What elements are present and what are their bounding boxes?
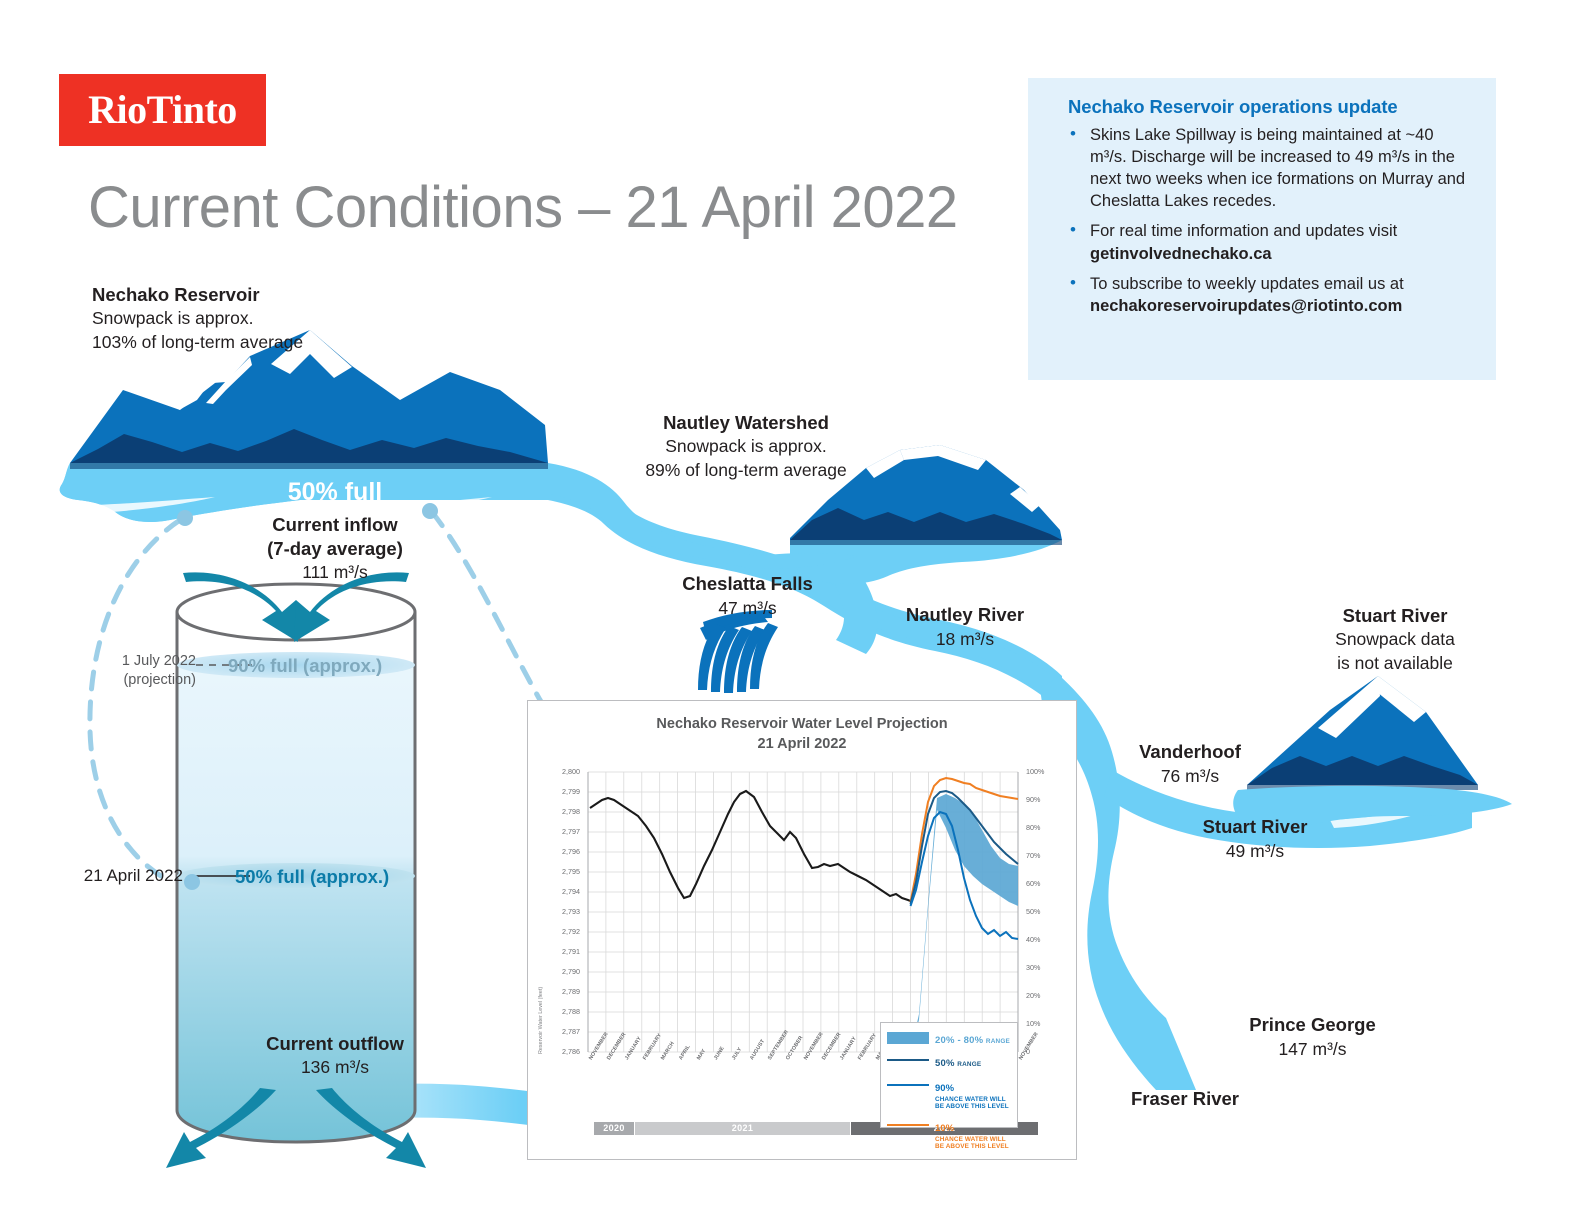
current-outflow-value: 136 m³/s [170, 1056, 500, 1079]
stuart-river-name: Stuart River [1160, 815, 1350, 840]
prince-george-value: 147 m³/s [1205, 1038, 1420, 1061]
chart-year-band: 2021 [635, 1122, 850, 1135]
chart-y2tick: 80% [1026, 823, 1060, 832]
chart-ytick: 2,800 [546, 767, 580, 776]
stuart-snowpack-name: Stuart River [1280, 604, 1510, 628]
chart-y2tick: 100% [1026, 767, 1060, 776]
chart-ytick: 2,798 [546, 807, 580, 816]
chart-y2tick: 50% [1026, 907, 1060, 916]
legend-band-label: 20% - 80% [935, 1035, 983, 1046]
nautley-snowpack-line1: Snowpack is approx. [620, 435, 872, 458]
chart-title: Nechako Reservoir Water Level Projection [528, 715, 1076, 735]
nautley-snowpack-label: Nautley Watershed Snowpack is approx. 89… [620, 411, 872, 482]
legend-90-suffix: CHANCE WATER WILL BE ABOVE THIS LEVEL [935, 1096, 1011, 1111]
projection-date-label: 1 July 2022 (projection) [88, 652, 196, 689]
legend-line-90 [887, 1084, 929, 1086]
reservoir-fill-banner: 50% full [170, 478, 500, 507]
chart-ytick: 2,788 [546, 1007, 580, 1016]
current-inflow-label: Current inflow (7-day average) 111 m³/s [165, 513, 505, 584]
prince-george-label: Prince George 147 m³/s [1205, 1013, 1420, 1061]
chart-y2tick: 40% [1026, 935, 1060, 944]
legend-50-suffix: RANGE [957, 1061, 981, 1068]
chart-ytick: 2,793 [546, 907, 580, 916]
legend-item-90: 90% CHANCE WATER WILL BE ABOVE THIS LEVE… [887, 1078, 1011, 1111]
stuart-river-value: 49 m³/s [1160, 840, 1350, 863]
legend-item-10: 10% CHANCE WATER WILL BE ABOVE THIS LEVE… [887, 1118, 1011, 1151]
stuart-snowpack-label: Stuart River Snowpack data is not availa… [1280, 604, 1510, 675]
nechako-snowpack-line2: 103% of long-term average [92, 331, 303, 354]
chart-ytick: 2,795 [546, 867, 580, 876]
prince-george-name: Prince George [1205, 1013, 1420, 1038]
infographic-root: RioTinto Current Conditions – 21 April 2… [0, 0, 1584, 1224]
current-inflow-sub: (7-day average) [165, 537, 505, 561]
stuart-river-flow-label: Stuart River 49 m³/s [1160, 815, 1350, 863]
projection-date: 1 July 2022 [88, 652, 196, 671]
current-level-label: 50% full (approx.) [235, 866, 389, 888]
chart-title-block: Nechako Reservoir Water Level Projection… [528, 715, 1076, 754]
projection-level-label: 90% full (approx.) [228, 655, 382, 677]
stuart-snowpack-line2: is not available [1280, 652, 1510, 675]
nechako-snowpack-name: Nechako Reservoir [92, 283, 303, 307]
legend-band-suffix: RANGE [986, 1038, 1010, 1045]
legend-item-50: 50% RANGE [887, 1053, 1011, 1071]
legend-10-label: 10% [935, 1123, 954, 1134]
legend-90-label: 90% [935, 1083, 954, 1094]
current-inflow-value: 111 m³/s [165, 561, 505, 584]
nautley-snowpack-name: Nautley Watershed [620, 411, 872, 435]
cheslatta-falls-name: Cheslatta Falls [660, 572, 835, 597]
chart-y2tick: 0 [1026, 1047, 1060, 1056]
legend-50-label: 50% [935, 1058, 955, 1069]
legend-10-suffix: CHANCE WATER WILL BE ABOVE THIS LEVEL [935, 1136, 1011, 1151]
current-outflow-name: Current outflow [170, 1032, 500, 1056]
vanderhoof-label: Vanderhoof 76 m³/s [1090, 740, 1290, 788]
stuart-snowpack-line1: Snowpack data [1280, 628, 1510, 651]
chart-year-band: 2020 [594, 1122, 634, 1135]
cheslatta-falls-icon [698, 610, 778, 693]
nechako-snowpack-label: Nechako Reservoir Snowpack is approx. 10… [92, 283, 303, 354]
chart-plot-wrap: Reservoir Water Level (feet) [528, 754, 1078, 1154]
legend-item-band: 20% - 80% RANGE [887, 1030, 1011, 1048]
chart-ytick: 2,787 [546, 1027, 580, 1036]
chart-ytick: 2,786 [546, 1047, 580, 1056]
chart-subtitle: 21 April 2022 [528, 735, 1076, 755]
current-date-label: 21 April 2022 [48, 866, 183, 886]
chart-y2tick: 20% [1026, 991, 1060, 1000]
chart-ytick: 2,797 [546, 827, 580, 836]
nautley-snowpack-line2: 89% of long-term average [620, 459, 872, 482]
chart-ytick: 2,790 [546, 967, 580, 976]
projection-note: (projection) [88, 671, 196, 690]
vanderhoof-name: Vanderhoof [1090, 740, 1290, 765]
chart-y2tick: 30% [1026, 963, 1060, 972]
nautley-river-name: Nautley River [875, 603, 1055, 628]
chart-ytick: 2,796 [546, 847, 580, 856]
chart-ytick: 2,794 [546, 887, 580, 896]
vanderhoof-value: 76 m³/s [1090, 765, 1290, 788]
legend-swatch-band [887, 1032, 929, 1044]
chart-ytick: 2,789 [546, 987, 580, 996]
nautley-river-value: 18 m³/s [875, 628, 1055, 651]
legend-line-10 [887, 1124, 929, 1126]
chart-y2tick: 10% [1026, 1019, 1060, 1028]
nechako-snowpack-line1: Snowpack is approx. [92, 307, 303, 330]
current-inflow-name: Current inflow [165, 513, 505, 537]
chart-y2tick: 90% [1026, 795, 1060, 804]
chart-ytick: 2,792 [546, 927, 580, 936]
current-outflow-label: Current outflow 136 m³/s [170, 1032, 500, 1079]
fraser-river-label: Fraser River [1085, 1088, 1285, 1110]
chart-ytick: 2,799 [546, 787, 580, 796]
cheslatta-falls-value: 47 m³/s [660, 597, 835, 620]
legend-line-50 [887, 1059, 929, 1061]
cheslatta-falls-label: Cheslatta Falls 47 m³/s [660, 572, 835, 620]
chart-legend: 20% - 80% RANGE 50% RANGE 90% CHANCE WAT… [880, 1022, 1018, 1128]
water-level-projection-chart: Nechako Reservoir Water Level Projection… [527, 700, 1077, 1160]
chart-ytick: 2,791 [546, 947, 580, 956]
chart-y2tick: 70% [1026, 851, 1060, 860]
chart-y2tick: 60% [1026, 879, 1060, 888]
nautley-river-label: Nautley River 18 m³/s [875, 603, 1055, 651]
